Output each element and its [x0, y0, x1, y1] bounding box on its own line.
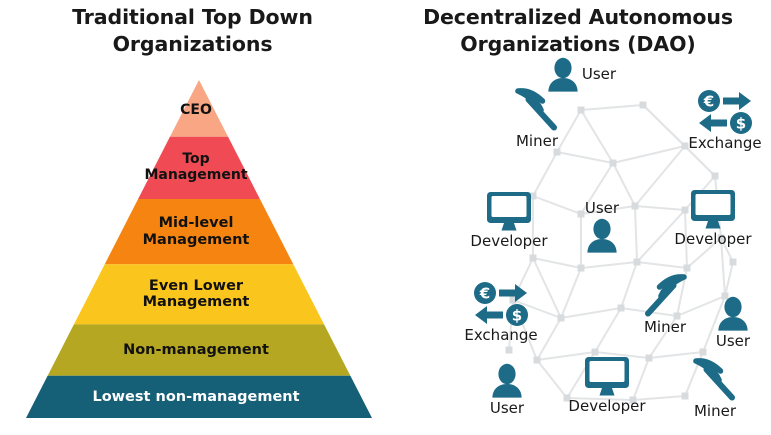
mesh-node-dot — [684, 265, 691, 272]
exchange-icon: €$ — [472, 281, 530, 327]
dao-node-label: Developer — [470, 234, 547, 250]
monitor-icon — [583, 356, 631, 398]
mesh-edge — [725, 262, 733, 296]
dao-node-label: Miner — [644, 320, 686, 336]
user-icon — [490, 362, 524, 400]
dao-node-user-bottom: User — [490, 362, 524, 417]
dao-node-user-center: User — [585, 201, 619, 256]
mesh-edge — [635, 206, 637, 262]
mesh-node-dot — [506, 347, 513, 354]
dao-node-label: Exchange — [688, 136, 761, 152]
dao-node-label: Miner — [516, 134, 558, 150]
dollar-symbol: $ — [512, 306, 522, 324]
pyramid-tier — [138, 137, 260, 199]
dao-node-label: Miner — [694, 404, 736, 420]
mesh-node-dot — [634, 259, 641, 266]
mesh-node-dot — [640, 102, 647, 109]
dao-node-label: User — [582, 67, 616, 83]
pyramid-shape — [0, 0, 385, 435]
pyramid-tier — [105, 199, 294, 264]
mesh-node-dot — [646, 355, 653, 362]
org-pyramid: CEOTopManagementMid-levelManagementEven … — [0, 0, 385, 435]
dao-node-label: Developer — [674, 232, 751, 248]
mesh-edge — [533, 152, 557, 196]
dollar-symbol: $ — [736, 114, 746, 132]
dao-node-label: Exchange — [464, 328, 537, 344]
mesh-node-dot — [712, 173, 719, 180]
dao-node-miner-center: Miner — [642, 273, 688, 336]
mesh-edge — [561, 268, 581, 318]
mesh-node-dot — [618, 305, 625, 312]
mesh-node-dot — [632, 203, 639, 210]
mesh-node-dot — [682, 393, 689, 400]
mesh-edge — [581, 110, 613, 163]
mesh-node-dot — [578, 265, 585, 272]
mesh-edge — [557, 110, 581, 152]
dao-node-exchange-topright: €$Exchange — [688, 89, 761, 152]
arrow-left-icon — [475, 306, 503, 324]
mesh-node-dot — [558, 315, 565, 322]
mesh-edge — [621, 262, 637, 308]
monitor-icon — [689, 189, 737, 231]
mesh-node-dot — [578, 107, 585, 114]
dao-node-label: User — [490, 401, 524, 417]
dao-node-label: User — [585, 201, 619, 217]
pyramid-tier — [74, 264, 324, 324]
mesh-edge — [537, 360, 567, 398]
mesh-edge — [581, 105, 643, 110]
dao-node-developer-right: Developer — [674, 189, 751, 248]
mesh-edge — [533, 258, 581, 268]
euro-symbol: € — [703, 92, 714, 110]
user-icon — [716, 295, 750, 333]
mesh-edge — [581, 262, 637, 268]
dao-node-label: User — [716, 334, 750, 350]
arrow-left-icon — [699, 114, 727, 132]
arrow-right-icon — [499, 284, 527, 302]
pickaxe-icon — [514, 87, 560, 133]
mesh-edge — [595, 308, 621, 352]
dao-node-miner-topleft: Miner — [514, 87, 560, 150]
dao-node-developer-left: Developer — [470, 191, 547, 250]
mesh-node-dot — [730, 259, 737, 266]
traditional-org-panel: Traditional Top Down Organizations CEOTo… — [0, 0, 385, 435]
dao-node-exchange-left: €$Exchange — [464, 281, 537, 344]
dao-node-user-right: User — [716, 295, 750, 350]
pyramid-tier — [26, 376, 372, 418]
dao-node-miner-bottom: Miner — [692, 357, 738, 420]
dao-panel: Decentralized Autonomous Organizations (… — [385, 0, 771, 435]
arrow-right-icon — [723, 92, 751, 110]
user-icon — [585, 217, 619, 255]
pickaxe-icon — [692, 357, 738, 403]
pyramid-tier — [48, 324, 351, 375]
dao-node-developer-bottom: Developer — [568, 356, 645, 415]
exchange-icon: €$ — [696, 89, 754, 135]
pyramid-tier — [170, 80, 228, 137]
pickaxe-icon — [642, 273, 688, 319]
monitor-icon — [485, 191, 533, 233]
euro-symbol: € — [479, 284, 490, 302]
dao-network: UserMiner€$ExchangeDeveloperUserDevelope… — [385, 0, 771, 435]
mesh-node-dot — [610, 160, 617, 167]
mesh-node-dot — [592, 349, 599, 356]
mesh-edge — [637, 262, 687, 268]
mesh-edge — [537, 318, 561, 360]
dao-node-label: Developer — [568, 399, 645, 415]
mesh-node-dot — [700, 349, 707, 356]
mesh-node-dot — [578, 211, 585, 218]
mesh-edge — [561, 308, 621, 318]
mesh-edge — [557, 152, 613, 163]
mesh-node-dot — [534, 357, 541, 364]
mesh-node-dot — [530, 255, 537, 262]
